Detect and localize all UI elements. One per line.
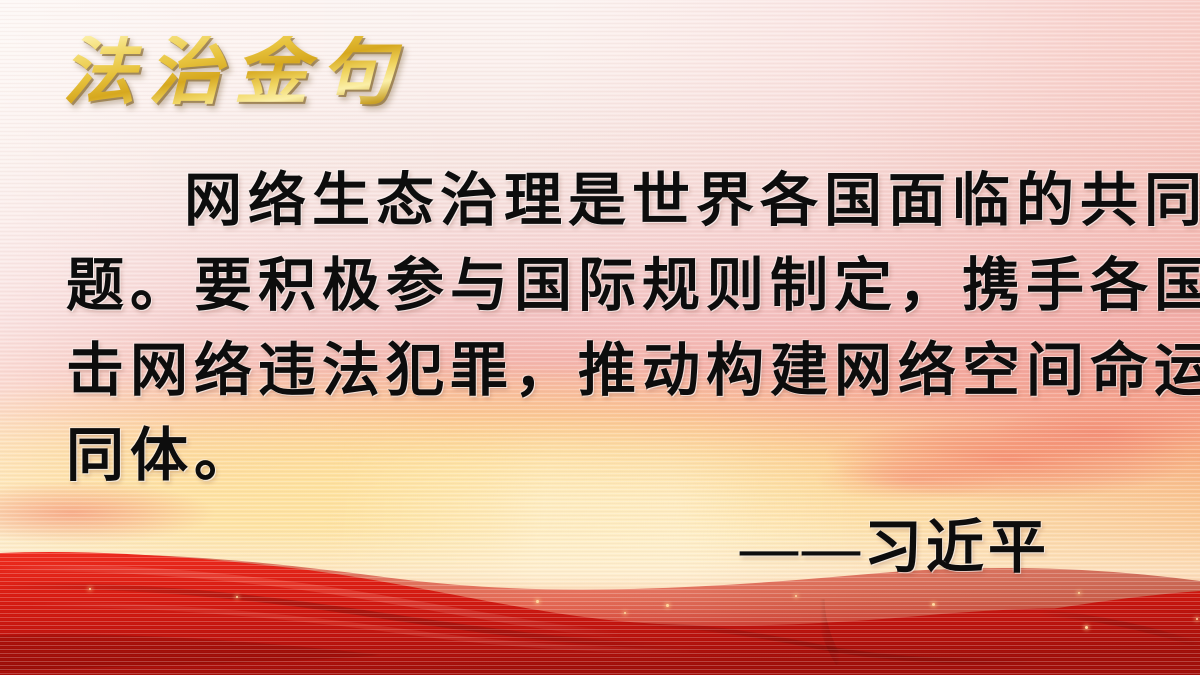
quote-line: 题。要积极参与国际规则制定，携手各国打 (66, 243, 1142, 328)
quote-attribution: ——习近平 (740, 500, 1050, 584)
quote-body: 网络生态治理是世界各国面临的共同课 题。要积极参与国际规则制定，携手各国打 击网… (66, 158, 1142, 498)
quote-line: 同体。 (66, 413, 1142, 498)
page-title: 法治金句 (62, 36, 406, 110)
slide-canvas: 法治金句 网络生态治理是世界各国面临的共同课 题。要积极参与国际规则制定，携手各… (0, 0, 1200, 675)
quote-line: 击网络违法犯罪，推动构建网络空间命运共 (66, 328, 1142, 413)
quote-line: 网络生态治理是世界各国面临的共同课 (66, 158, 1142, 243)
